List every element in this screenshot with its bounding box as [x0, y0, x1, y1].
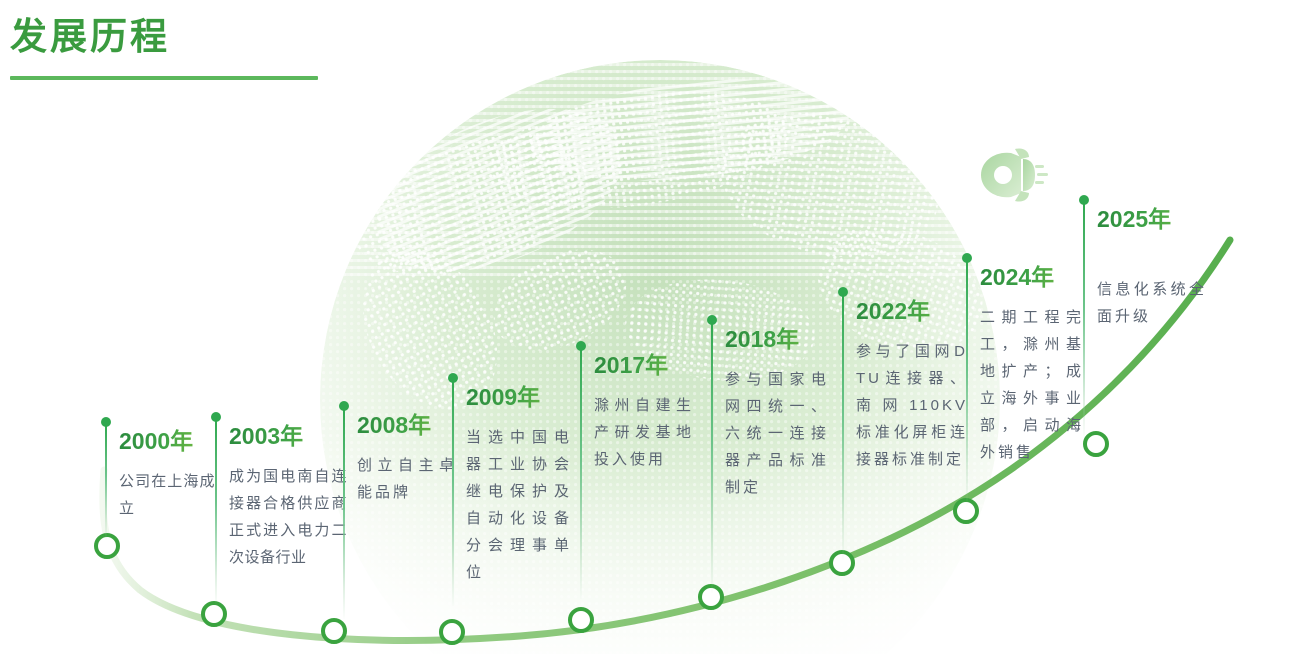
development-history-infographic: 发展历程 [0, 0, 1316, 654]
milestone-year: 2009年 [466, 378, 572, 412]
node-2017 [570, 609, 592, 631]
milestone-dot-icon [962, 253, 972, 263]
milestone-year: 2017年 [594, 346, 694, 380]
node-2008 [323, 620, 345, 642]
milestone-year: 2024年 [980, 258, 1084, 292]
milestone-stem [343, 406, 345, 619]
milestone-desc: 二期工程完工，滁州基地扩产；成立海外事业部，启动海外销售 [980, 304, 1084, 466]
milestone-desc: 当选中国电器工业协会继电保护及自动化设备分会理事单位 [466, 424, 572, 586]
milestone-dot-icon [101, 417, 111, 427]
milestone-dot-icon [339, 401, 349, 411]
page-title: 发展历程 [10, 12, 318, 62]
milestone-stem [580, 346, 582, 599]
milestone-year: 2022年 [856, 292, 968, 326]
node-2000 [96, 535, 118, 557]
milestone-stem [711, 320, 713, 593]
milestone-stem [452, 378, 454, 606]
milestone-year: 2025年 [1097, 200, 1207, 234]
milestone-dot-icon [576, 341, 586, 351]
title-block: 发展历程 [10, 12, 318, 80]
milestone-desc: 滁州自建生产研发基地投入使用 [594, 392, 694, 473]
milestone-year: 2000年 [119, 422, 215, 456]
milestone-desc: 信息化系统全面升级 [1097, 276, 1207, 330]
milestone-dot-icon [707, 315, 717, 325]
milestone-stem [215, 417, 217, 605]
milestone-stem [966, 258, 968, 506]
milestone-dot-icon [448, 373, 458, 383]
milestone-desc: 公司在上海成立 [119, 468, 215, 522]
rocket-icon [975, 145, 1051, 205]
title-underline [10, 76, 318, 80]
milestone-desc: 成为国电南自连接器合格供应商正式进入电力二次设备行业 [229, 463, 347, 571]
milestone-dot-icon [1079, 195, 1089, 205]
node-2025 [1085, 433, 1107, 455]
milestone-stem [105, 422, 107, 540]
milestone-year: 2003年 [229, 417, 347, 451]
node-2009 [441, 621, 463, 643]
milestone-year: 2018年 [725, 320, 829, 354]
milestone-dot-icon [838, 287, 848, 297]
milestone-year: 2008年 [357, 406, 457, 440]
milestone-desc: 创立自主卓能品牌 [357, 452, 457, 506]
milestone-dot-icon [211, 412, 221, 422]
milestone-stem [1083, 200, 1085, 438]
milestone-desc: 参与国家电网四统一、六统一连接器产品标准制定 [725, 366, 829, 501]
node-2003 [203, 603, 225, 625]
milestone-desc: 参与了国网DTU连接器、南网110KV标准化屏柜连接器标准制定 [856, 338, 968, 473]
milestone-stem [842, 292, 844, 560]
